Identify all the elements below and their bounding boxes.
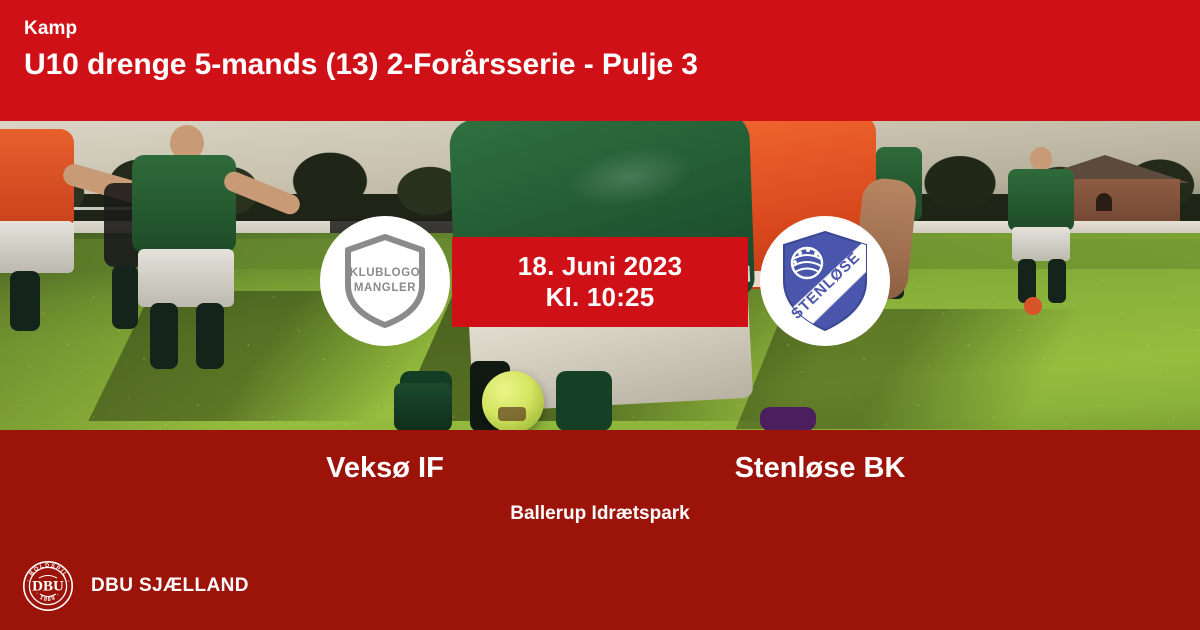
poster-header: Kamp U10 drenge 5-mands (13) 2-Forårsser…	[0, 0, 1200, 121]
photo-player	[1030, 147, 1052, 171]
match-time: Kl. 10:25	[546, 282, 655, 313]
away-team-name: Stenløse BK	[600, 448, 1040, 488]
federation-branding: DANSK · BOLDSPIL · UNION · 1889 · DBU DB…	[22, 560, 249, 612]
home-team-name: Veksø IF	[165, 448, 605, 488]
photo-player	[0, 221, 74, 273]
photo-player	[112, 265, 138, 329]
photo-player	[1008, 169, 1074, 231]
match-date: 18. Juni 2023	[518, 251, 682, 282]
match-kind-label: Kamp	[24, 18, 1200, 40]
photo-player	[196, 303, 224, 369]
home-crest-line-1: KLUBLOGO	[350, 266, 421, 281]
match-poster: Kamp U10 drenge 5-mands (13) 2-Forårsser…	[0, 0, 1200, 630]
photo-match-ball	[482, 371, 544, 430]
dbu-seal-icon: DANSK · BOLDSPIL · UNION · 1889 · DBU	[22, 560, 74, 612]
photo-player	[150, 303, 178, 369]
photo-ball	[1024, 297, 1042, 315]
photo-ball-panel	[498, 407, 526, 421]
photo-player	[1048, 259, 1066, 303]
stenlose-bk-crest-icon: STENLØSE	[779, 229, 871, 333]
home-crest-line-2: MANGLER	[350, 281, 421, 296]
photo-foreground-leg	[556, 371, 612, 430]
photo-player	[138, 249, 234, 307]
page-title: U10 drenge 5-mands (13) 2-Forårsserie - …	[24, 46, 1200, 84]
photo-player	[132, 155, 236, 253]
photo-player	[1012, 227, 1070, 261]
photo-player	[10, 271, 40, 331]
shield-placeholder-icon: KLUBLOGO MANGLER	[342, 233, 428, 329]
teams-row: Veksø IF Stenløse BK	[0, 448, 1200, 492]
photo-farmhouse-window	[1096, 193, 1112, 211]
federation-label: DBU SJÆLLAND	[91, 575, 249, 597]
away-team-crest: STENLØSE	[760, 216, 890, 346]
dbu-seal-center-text: DBU	[32, 579, 64, 595]
venue-name: Ballerup Idrætspark	[0, 502, 1200, 526]
home-team-crest: KLUBLOGO MANGLER	[320, 216, 450, 346]
photo-foreground-sock	[394, 383, 452, 430]
match-datetime-band: 18. Juni 2023 Kl. 10:25	[452, 237, 748, 327]
poster-footer-section: Veksø IF Stenløse BK Ballerup Idrætspark…	[0, 430, 1200, 630]
photo-foreground-boot	[760, 407, 816, 430]
